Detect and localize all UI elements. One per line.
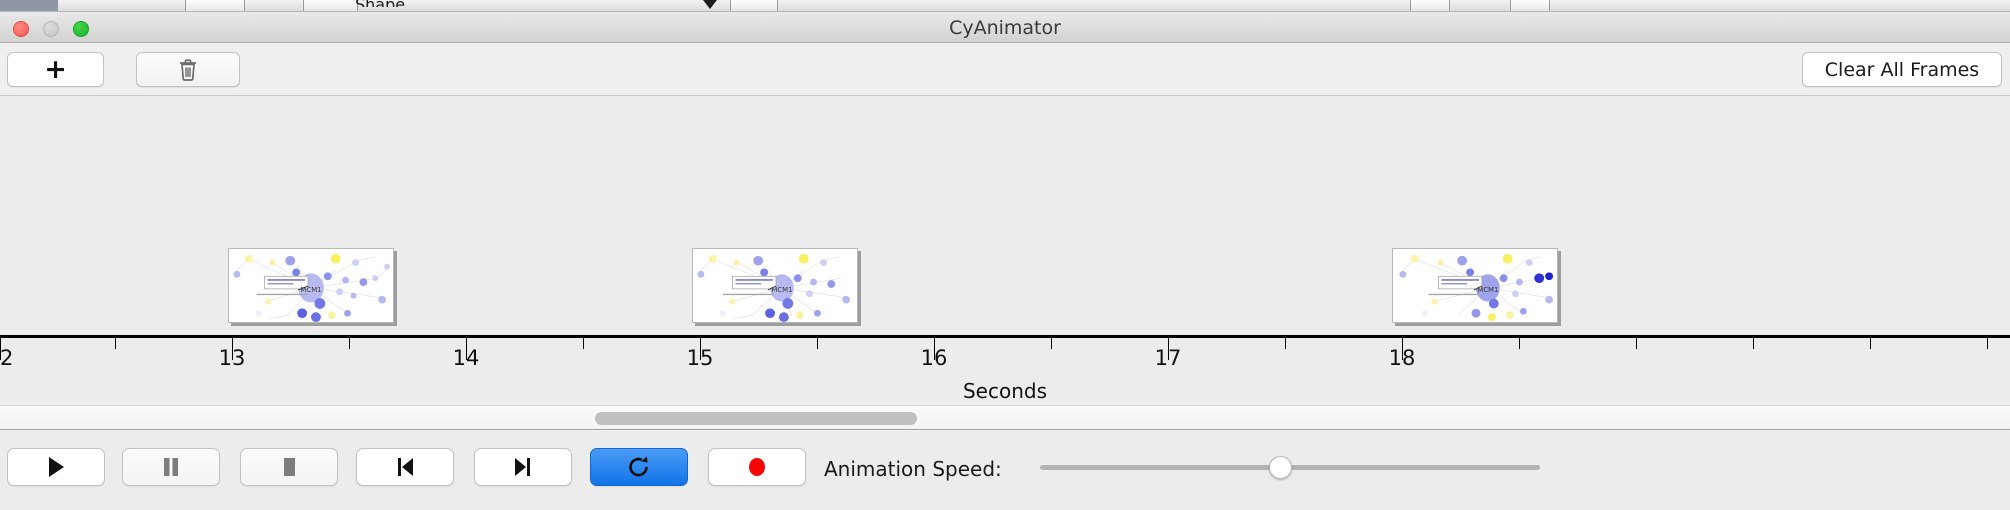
axis-tick-minor [1636, 338, 1637, 349]
axis-tick-minor [1987, 338, 1988, 349]
axis-tick-label: 18 [1389, 346, 1416, 370]
timeline-scrollbar-thumb[interactable] [595, 412, 917, 425]
pause-icon [161, 456, 181, 478]
svg-text:MCM1: MCM1 [771, 286, 792, 294]
background-sidebar-fragment [0, 0, 58, 12]
background-tab-fragment-1 [185, 0, 245, 12]
animation-speed-slider[interactable] [1040, 448, 1540, 486]
axis-tick-label: 13 [219, 346, 246, 370]
play-button[interactable] [7, 448, 105, 486]
axis-tick-label: 16 [921, 346, 948, 370]
window-title: CyAnimator [0, 17, 2010, 39]
playback-bar: Animation Speed: [0, 430, 2010, 507]
clear-all-frames-button[interactable]: Clear All Frames [1802, 52, 2002, 87]
axis-tick-label: 15 [687, 346, 714, 370]
background-tab-fragment-5 [1510, 0, 1550, 12]
axis-tick-label: 17 [1155, 346, 1182, 370]
timeline-axis-line [0, 335, 2010, 338]
axis-tick-minor [583, 338, 584, 349]
play-icon [46, 456, 66, 478]
frame-thumbnail[interactable]: MCM1 [692, 248, 858, 323]
axis-tick-minor [817, 338, 818, 349]
background-window-strip: Shape [0, 0, 2010, 12]
axis-tick-minor [1753, 338, 1754, 349]
network-thumbnail-graphic: MCM1 [229, 249, 393, 322]
loop-button[interactable] [590, 448, 688, 486]
stop-icon [279, 456, 299, 478]
animation-speed-thumb[interactable] [1269, 456, 1292, 479]
timeline-scrollbar[interactable] [0, 405, 2010, 430]
title-bar: CyAnimator [0, 12, 2010, 43]
svg-text:MCM1: MCM1 [1477, 286, 1498, 294]
delete-frame-button[interactable] [136, 52, 240, 87]
plus-icon: + [44, 56, 67, 83]
skip-to-end-button[interactable] [474, 448, 572, 486]
axis-tick-minor [1519, 338, 1520, 349]
background-window-label: Shape [355, 0, 405, 7]
loop-icon [627, 455, 651, 479]
axis-tick-minor [1051, 338, 1052, 349]
cyanimator-window: CyAnimator + Clear All Frames [0, 12, 2010, 510]
axis-tick-label: 14 [453, 346, 480, 370]
background-tab-fragment-4 [1410, 0, 1450, 12]
network-thumbnail-graphic: MCM1 [693, 249, 857, 322]
pause-button[interactable] [122, 448, 220, 486]
toolbar: + Clear All Frames [0, 43, 2010, 96]
skip-start-icon [394, 456, 416, 478]
add-frame-button[interactable]: + [7, 52, 104, 87]
axis-title: Seconds [0, 379, 2010, 403]
skip-to-start-button[interactable] [356, 448, 454, 486]
frame-thumbnail[interactable]: MCM1 [228, 248, 394, 323]
axis-tick-label: 12 [0, 346, 13, 370]
background-tab-fragment-2 [303, 0, 358, 12]
clear-all-frames-label: Clear All Frames [1825, 59, 1979, 81]
background-tab-fragment-3 [730, 0, 778, 12]
record-icon [745, 455, 769, 479]
frame-thumbnail[interactable]: MCM1 [1392, 248, 1558, 323]
network-thumbnail-graphic: MCM1 [1393, 249, 1557, 322]
stop-button[interactable] [240, 448, 338, 486]
axis-tick-minor [349, 338, 350, 349]
trash-icon [177, 58, 199, 82]
svg-text:MCM1: MCM1 [300, 286, 321, 294]
record-button[interactable] [708, 448, 806, 486]
timeline-panel[interactable]: MCM1 [0, 96, 2010, 405]
axis-tick-minor [1870, 338, 1871, 349]
axis-tick-minor [115, 338, 116, 349]
axis-tick-minor [1285, 338, 1286, 349]
skip-end-icon [512, 456, 534, 478]
animation-speed-label: Animation Speed: [824, 457, 1002, 481]
background-caret-icon [703, 0, 717, 9]
